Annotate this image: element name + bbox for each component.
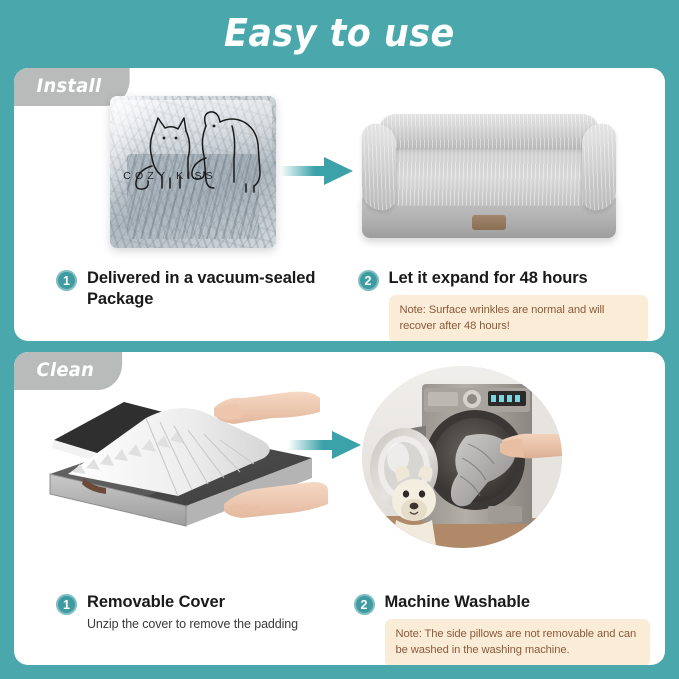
step-subtitle: Unzip the cover to remove the padding: [87, 616, 298, 633]
step-badge: 2: [354, 594, 375, 615]
step-title: Delivered in a vacuum-sealed Package: [87, 268, 336, 311]
dog-bed-image: [358, 98, 620, 238]
bed-bolster-right: [582, 121, 616, 212]
section-card-install: Install: [14, 68, 665, 341]
step-title: Machine Washable: [385, 592, 650, 613]
clean-step-1: 1 Removable Cover Unzip the cover to rem…: [14, 352, 340, 665]
clean-step-2-caption: 2 Machine Washable Note: The side pillow…: [354, 592, 650, 665]
install-step-2: 2 Let it expand for 48 hours Note: Surfa…: [340, 68, 666, 341]
clean-step-1-caption: 1 Removable Cover Unzip the cover to rem…: [56, 592, 346, 633]
bed-bolster-back: [380, 114, 598, 148]
bed-inner-cushion: [392, 140, 586, 206]
step-title: Let it expand for 48 hours: [389, 268, 648, 289]
vacuum-sealed-package-image: COZY KISS: [110, 96, 276, 248]
bed-leather-tag: [472, 215, 506, 230]
step-note: Note: The side pillows are not removable…: [385, 619, 650, 665]
section-card-clean: Clean: [14, 352, 665, 665]
mattress-foam-illustration: [28, 378, 328, 528]
step-badge: 2: [358, 270, 379, 291]
bed-bolster-left: [362, 121, 396, 212]
clean-step-2: 2 Machine Washable Note: The side pillow…: [340, 352, 666, 665]
page-header: Easy to use: [0, 0, 679, 66]
removable-cover-image: [28, 378, 328, 528]
washing-machine-image: [362, 366, 562, 548]
install-step-1: COZY KISS 1 Delivered: [14, 68, 340, 341]
step-badge: 1: [56, 270, 77, 291]
install-step-2-caption: 2 Let it expand for 48 hours Note: Surfa…: [358, 268, 648, 341]
install-panes: COZY KISS 1 Delivered: [14, 68, 665, 341]
package-brand-text: COZY KISS: [123, 170, 217, 182]
step-note: Note: Surface wrinkles are normal and wi…: [389, 295, 648, 341]
clean-panes: 1 Removable Cover Unzip the cover to rem…: [14, 352, 665, 665]
page-title: Easy to use: [224, 11, 455, 55]
install-step-1-caption: 1 Delivered in a vacuum-sealed Package: [56, 268, 336, 311]
washer-dog-illustration: [362, 366, 562, 548]
step-badge: 1: [56, 594, 77, 615]
step-title: Removable Cover: [87, 592, 298, 613]
